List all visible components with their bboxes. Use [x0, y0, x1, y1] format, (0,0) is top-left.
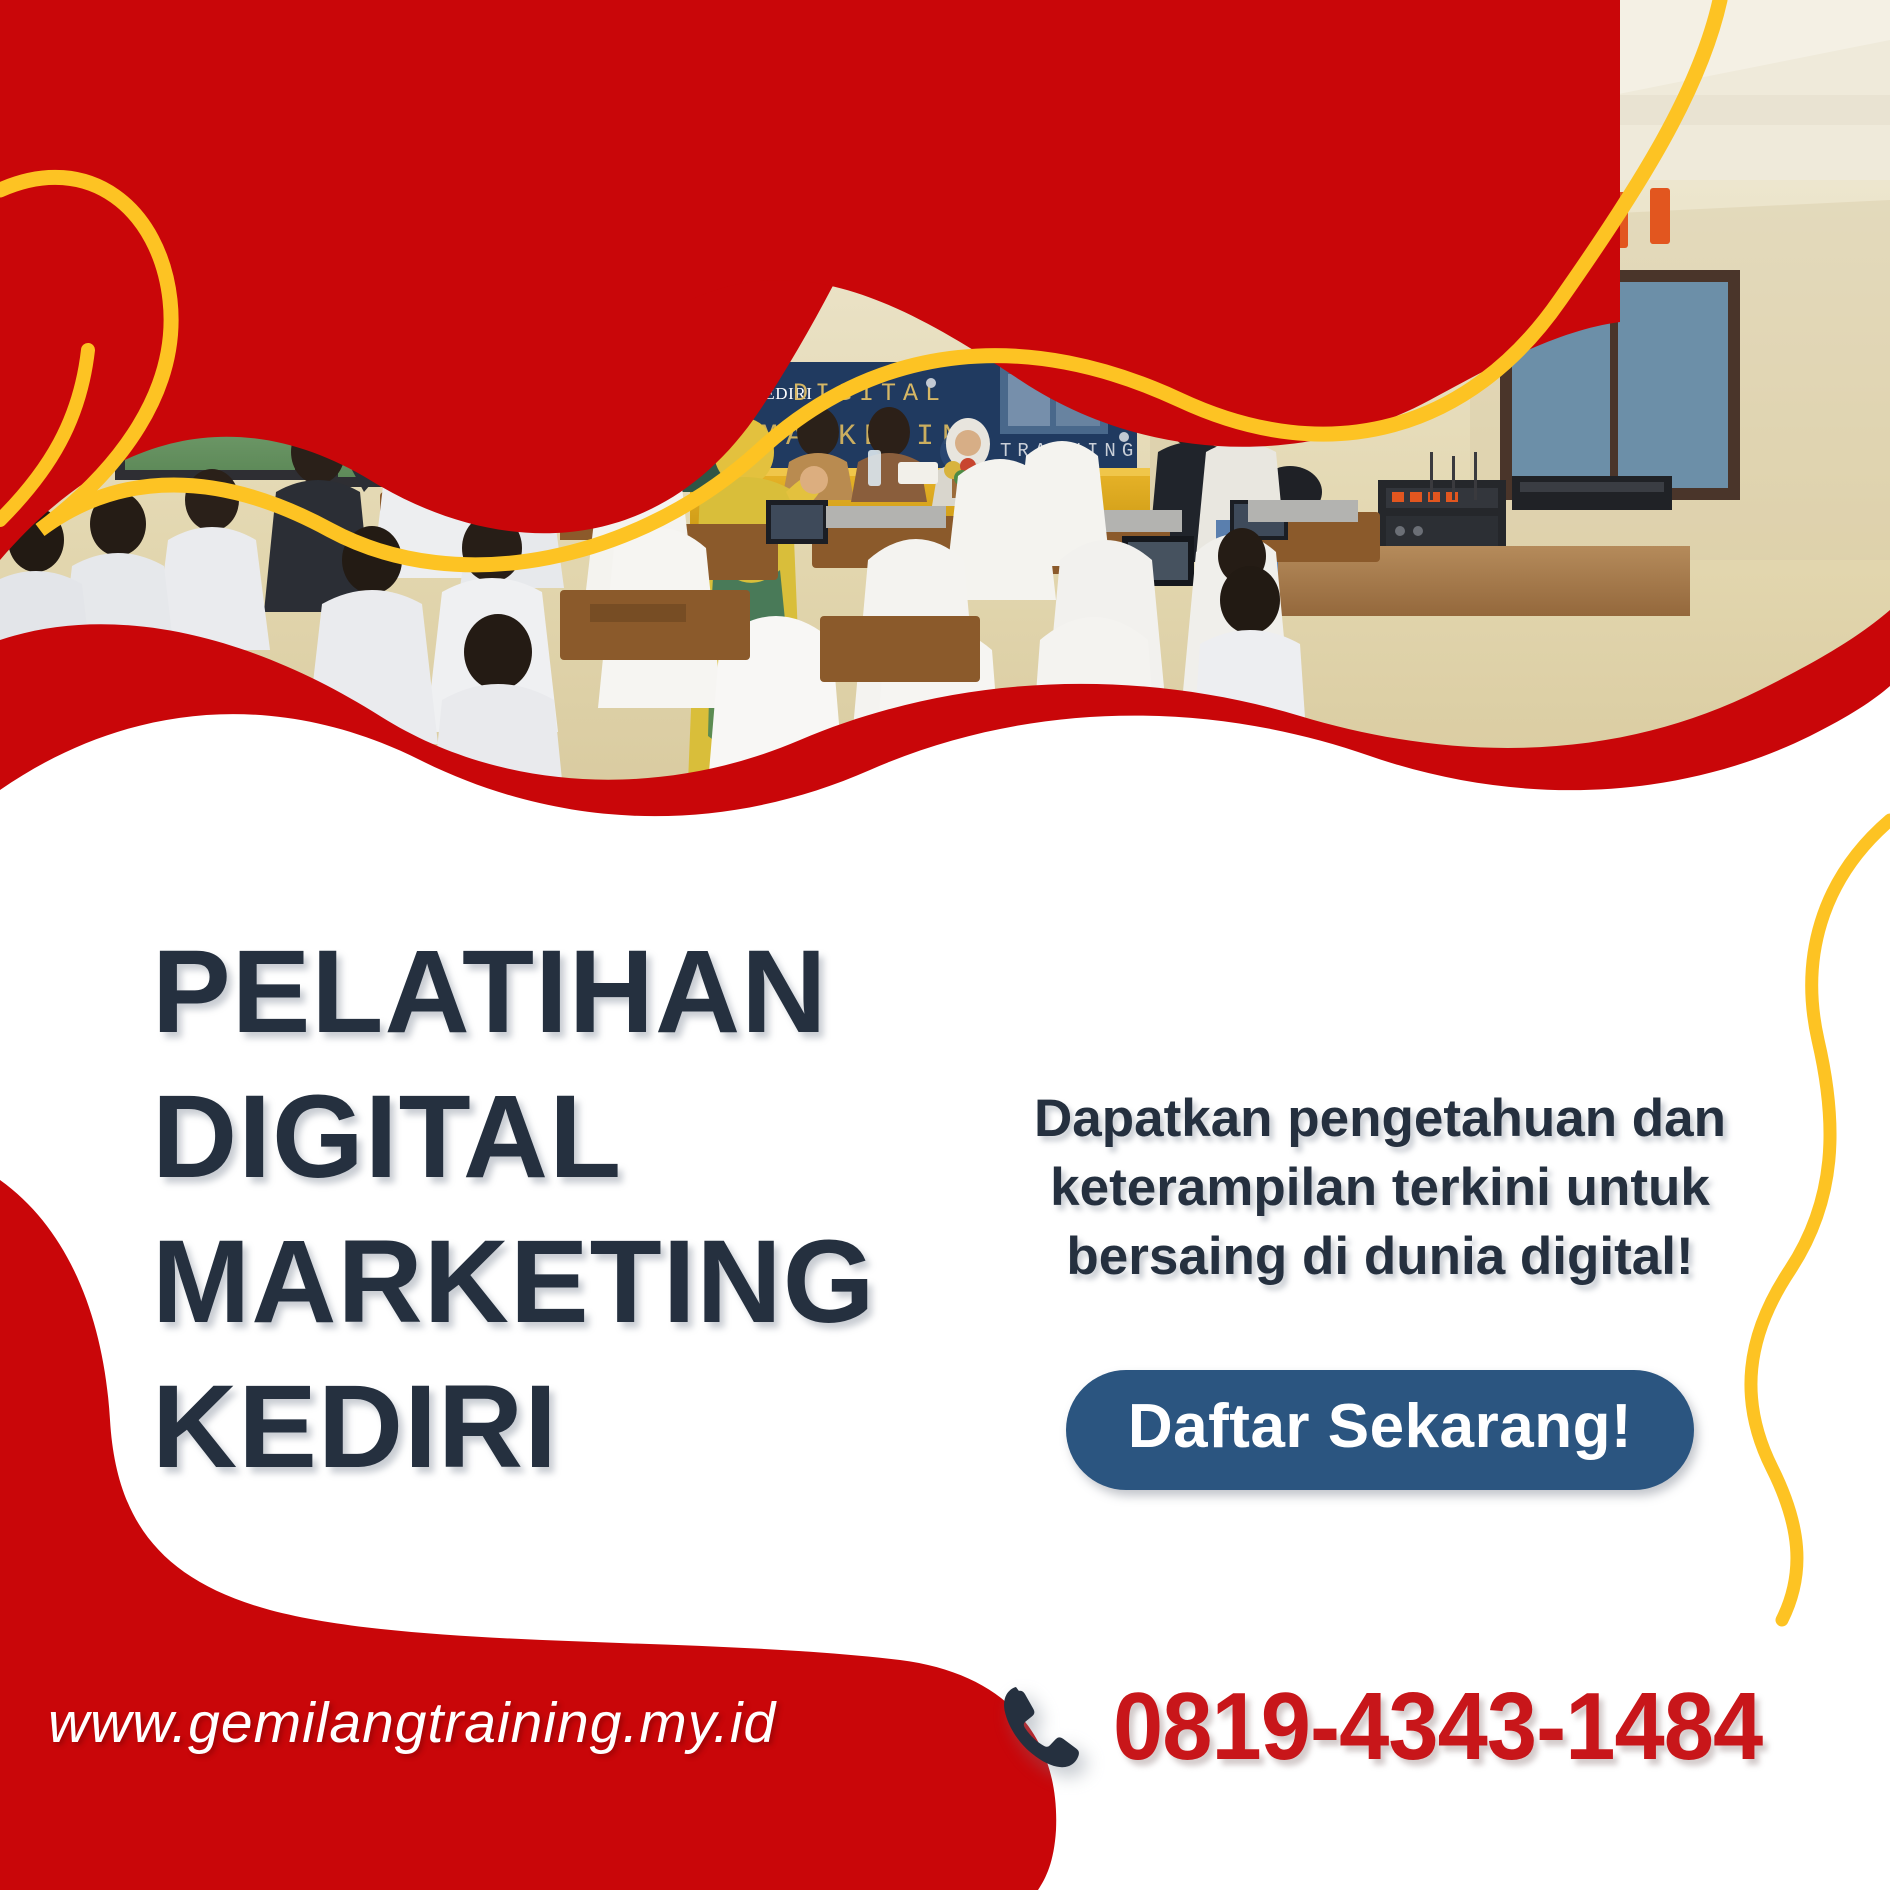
svg-text:ASUS: ASUS	[1330, 280, 1407, 308]
subcopy-line-3: bersaing di dunia digital!	[1066, 1227, 1693, 1286]
headline-line-1: PELATIHAN	[152, 920, 952, 1065]
subcopy-text: Dapatkan pengetahuan dan keterampilan te…	[985, 1085, 1775, 1292]
svg-text:DIGITAL: DIGITAL	[793, 379, 947, 408]
poster-canvas: ASUS	[0, 0, 1890, 1890]
phone-contact[interactable]: 0819-4343-1484	[995, 1672, 1804, 1782]
subcopy-line-1: Dapatkan pengetahuan dan	[1034, 1089, 1726, 1148]
cta-container: Daftar Sekarang!	[985, 1370, 1775, 1490]
hero-photo: ASUS	[0, 0, 1890, 880]
headline-line-2: DIGITAL	[152, 1065, 952, 1210]
headline-line-4: KEDIRI	[152, 1355, 952, 1500]
svg-text:Jawa Pos: Jawa Pos	[706, 374, 740, 384]
subcopy-line-2: keterampilan terkini untuk	[1050, 1158, 1710, 1217]
headline-line-3: MARKETING	[152, 1210, 952, 1355]
phone-number: 0819-4343-1484	[1113, 1672, 1762, 1782]
website-url[interactable]: www.gemilangtraining.my.id	[48, 1690, 776, 1756]
register-now-button[interactable]: Daftar Sekarang!	[1066, 1370, 1694, 1490]
phone-handset-icon	[995, 1681, 1087, 1773]
page-title: PELATIHAN DIGITAL MARKETING KEDIRI	[152, 920, 952, 1501]
